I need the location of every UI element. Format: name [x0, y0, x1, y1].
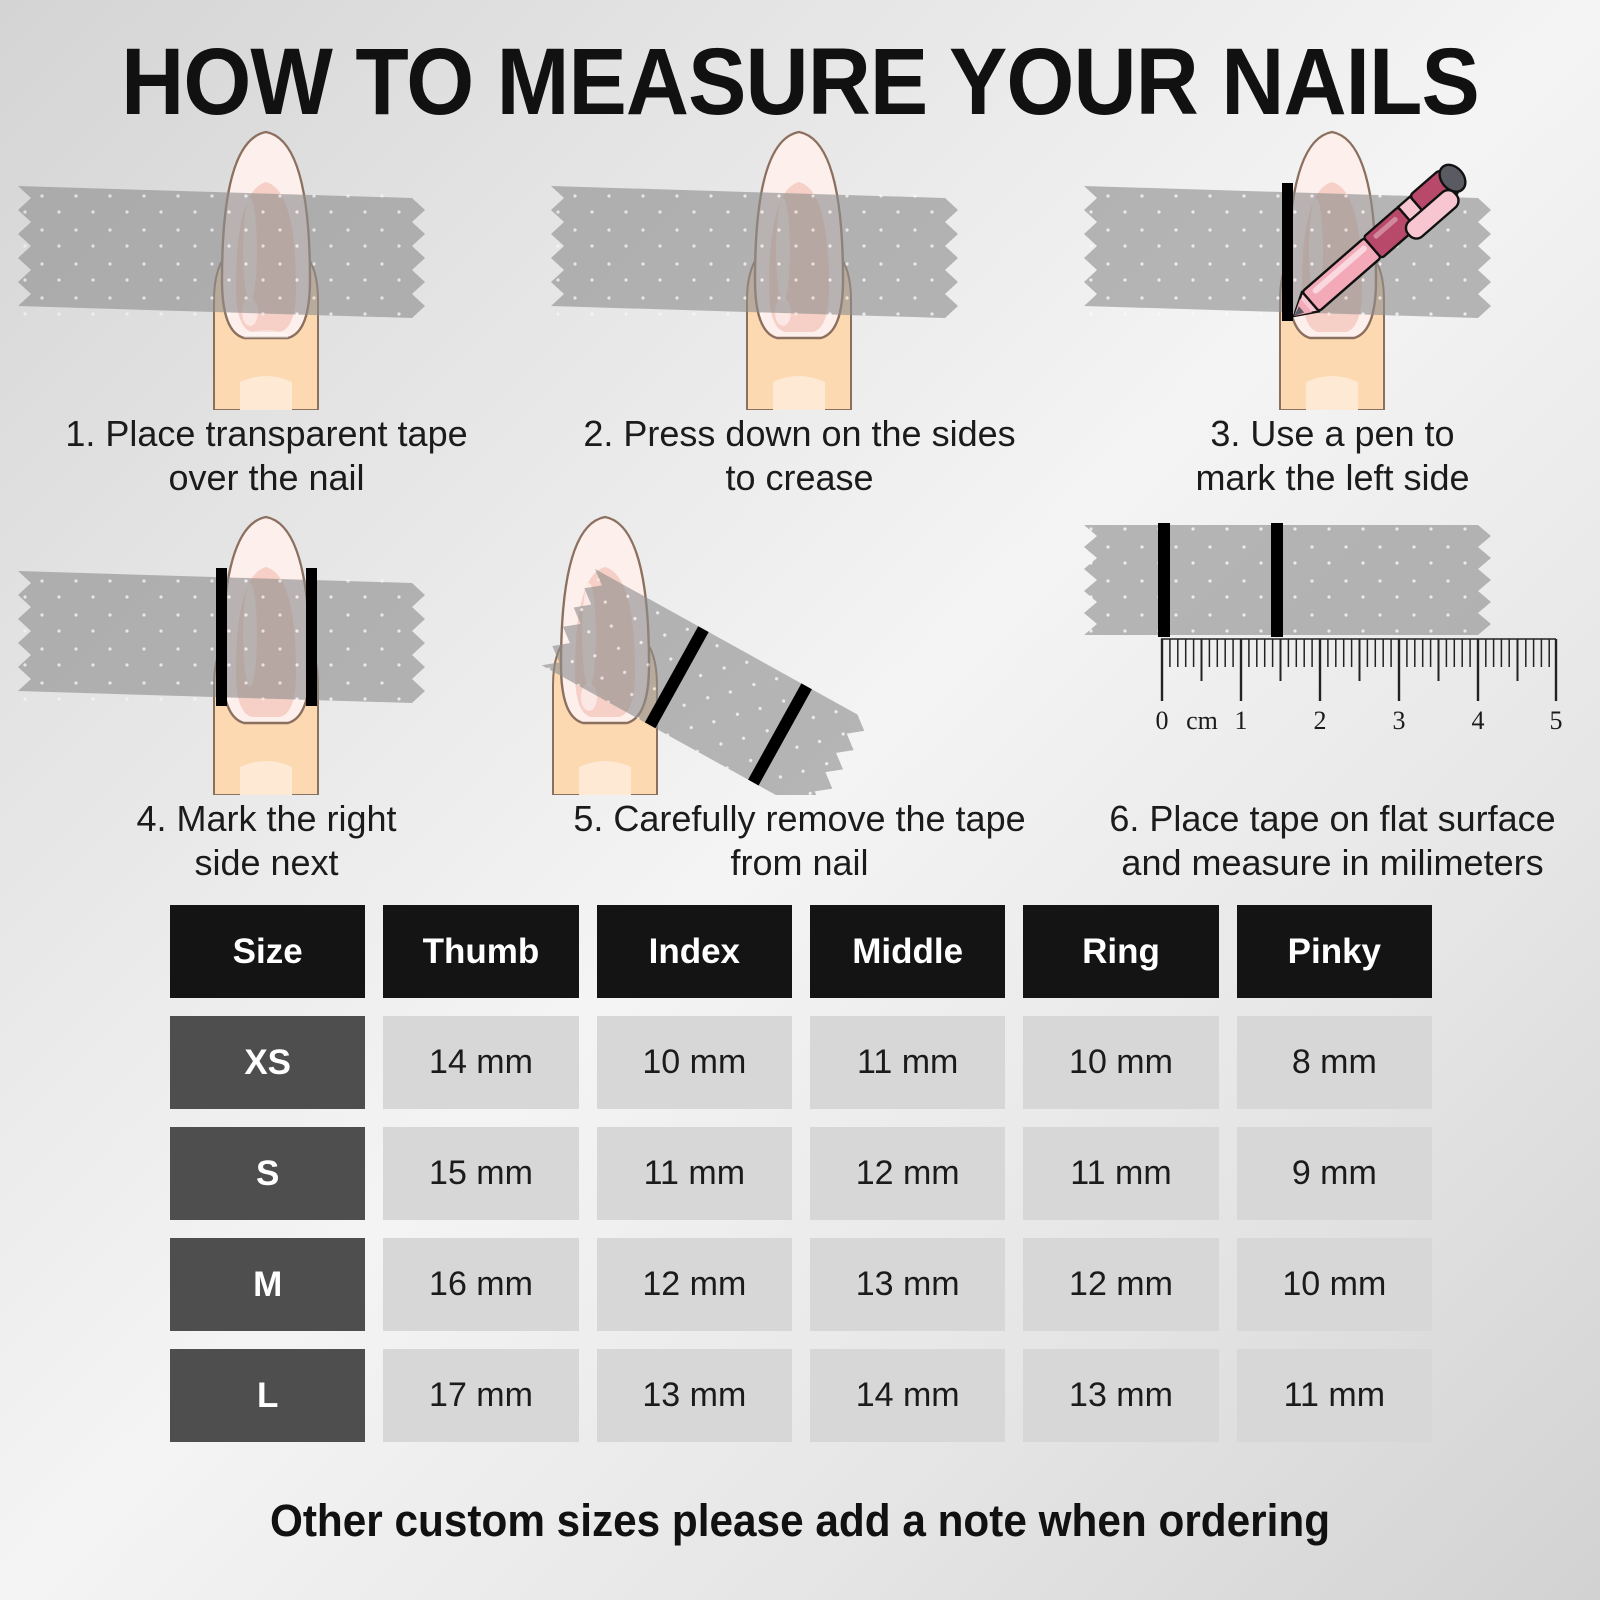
step-3: 3. Use a pen to mark the left side [1066, 120, 1599, 505]
step-4-caption-line1: 4. Mark the right [8, 797, 525, 841]
table-cell-m-ring: 12 mm [1023, 1238, 1218, 1331]
table-cell-s-middle: 12 mm [810, 1127, 1005, 1220]
tape [551, 186, 958, 318]
footer-note: Other custom sizes please add a note whe… [48, 1495, 1552, 1547]
ruler-unit-label: cm [1186, 706, 1218, 735]
table-cell-l-pinky: 11 mm [1237, 1349, 1432, 1442]
tape-peeled-off-nail-illustration [533, 505, 1066, 795]
size-chart-table: Size Thumb Index Middle Ring Pinky XS 14… [170, 905, 1432, 1442]
table-cell-xs-pinky: 8 mm [1237, 1016, 1432, 1109]
step-5-caption: 5. Carefully remove the tape from nail [541, 797, 1058, 885]
step-1-caption: 1. Place transparent tape over the nail [8, 412, 525, 500]
ruler-tick-4: 4 [1472, 706, 1485, 735]
table-row-size-xs: XS [170, 1016, 365, 1109]
table-cell-xs-thumb: 14 mm [383, 1016, 578, 1109]
step-6: 0 cm 1 2 3 4 5 6. Place tape on flat sur… [1066, 505, 1599, 890]
step-1: 1. Place transparent tape over the nail [0, 120, 533, 505]
table-header-size: Size [170, 905, 365, 998]
step-6-caption-line1: 6. Place tape on flat surface [1074, 797, 1591, 841]
tape [18, 186, 425, 318]
ruler-tick-0: 0 [1156, 706, 1169, 735]
table-cell-xs-ring: 10 mm [1023, 1016, 1218, 1109]
step-4-caption-line2: side next [8, 841, 525, 885]
table-cell-s-ring: 11 mm [1023, 1127, 1218, 1220]
nail-with-two-marks-illustration [0, 505, 533, 795]
table-header-pinky: Pinky [1237, 905, 1432, 998]
ruler-tick-2: 2 [1314, 706, 1327, 735]
table-cell-s-thumb: 15 mm [383, 1127, 578, 1220]
table-row-size-m: M [170, 1238, 365, 1331]
step-6-caption-line2: and measure in milimeters [1074, 841, 1591, 885]
steps-grid: 1. Place transparent tape over the nail [0, 120, 1600, 890]
table-row-size-s: S [170, 1127, 365, 1220]
table-cell-l-thumb: 17 mm [383, 1349, 578, 1442]
table-cell-s-index: 11 mm [597, 1127, 792, 1220]
ruler-tick-1: 1 [1235, 706, 1248, 735]
table-cell-m-index: 12 mm [597, 1238, 792, 1331]
table-header-middle: Middle [810, 905, 1005, 998]
step-6-caption: 6. Place tape on flat surface and measur… [1074, 797, 1591, 885]
ruler [1161, 639, 1556, 701]
left-mark [216, 568, 227, 706]
table-row-size-l: L [170, 1349, 365, 1442]
left-mark [1282, 183, 1293, 321]
table-header-ring: Ring [1023, 905, 1218, 998]
table-header-thumb: Thumb [383, 905, 578, 998]
table-cell-m-middle: 13 mm [810, 1238, 1005, 1331]
step-1-caption-line1: 1. Place transparent tape [8, 412, 525, 456]
step-2-caption-line1: 2. Press down on the sides [541, 412, 1058, 456]
table-cell-m-pinky: 10 mm [1237, 1238, 1432, 1331]
step-3-caption: 3. Use a pen to mark the left side [1074, 412, 1591, 500]
table-header-index: Index [597, 905, 792, 998]
table-cell-l-ring: 13 mm [1023, 1349, 1218, 1442]
step-5-caption-line1: 5. Carefully remove the tape [541, 797, 1058, 841]
step-2: 2. Press down on the sides to crease [533, 120, 1066, 505]
table-cell-m-thumb: 16 mm [383, 1238, 578, 1331]
ruler-labels: 0 cm 1 2 3 4 5 [1156, 706, 1563, 735]
ruler-tick-5: 5 [1550, 706, 1563, 735]
step-5: 5. Carefully remove the tape from nail [533, 505, 1066, 890]
step-5-caption-line2: from nail [541, 841, 1058, 885]
tape [1084, 525, 1491, 635]
step-3-caption-line1: 3. Use a pen to [1074, 412, 1591, 456]
tape-mark-left [1158, 523, 1170, 637]
step-3-caption-line2: mark the left side [1074, 456, 1591, 500]
ruler-tick-3: 3 [1393, 706, 1406, 735]
table-cell-l-middle: 14 mm [810, 1349, 1005, 1442]
step-2-caption: 2. Press down on the sides to crease [541, 412, 1058, 500]
nail-with-creased-tape-illustration [533, 120, 1066, 410]
tape-mark-right [1271, 523, 1283, 637]
step-1-caption-line2: over the nail [8, 456, 525, 500]
step-4-caption: 4. Mark the right side next [8, 797, 525, 885]
right-mark [306, 568, 317, 706]
table-cell-l-index: 13 mm [597, 1349, 792, 1442]
table-cell-xs-index: 10 mm [597, 1016, 792, 1109]
table-cell-s-pinky: 9 mm [1237, 1127, 1432, 1220]
tape-on-ruler-illustration: 0 cm 1 2 3 4 5 [1066, 505, 1599, 795]
nail-with-tape-illustration [0, 120, 533, 410]
table-cell-xs-middle: 11 mm [810, 1016, 1005, 1109]
nail-with-pen-marking-left-illustration [1066, 120, 1599, 410]
step-2-caption-line2: to crease [541, 456, 1058, 500]
step-4: 4. Mark the right side next [0, 505, 533, 890]
